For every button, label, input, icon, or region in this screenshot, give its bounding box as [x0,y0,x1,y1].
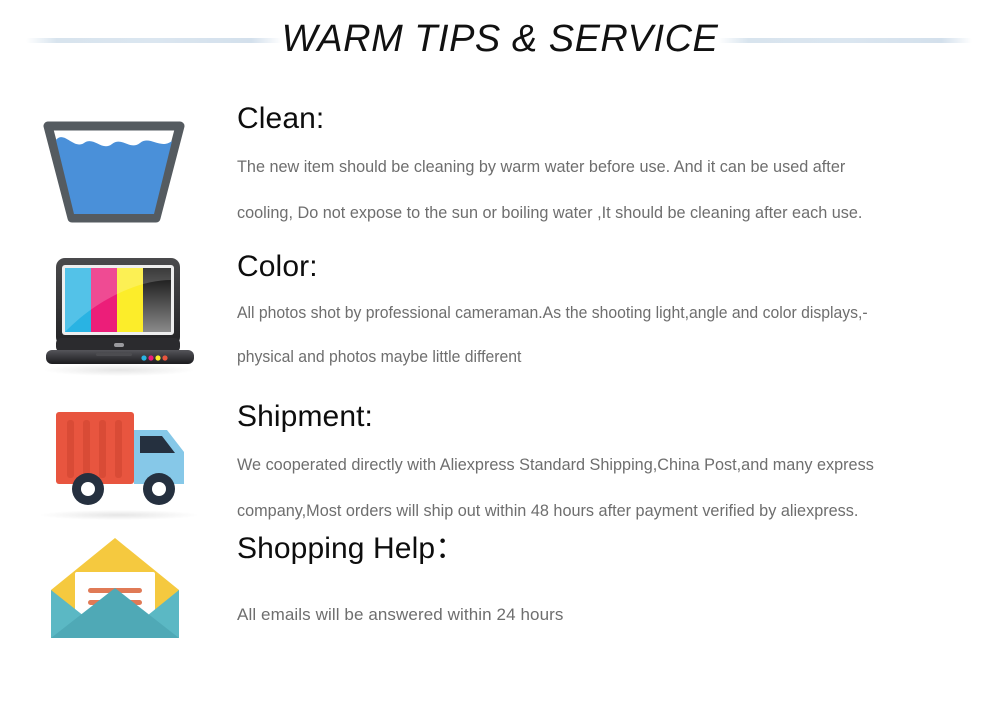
section-help-heading: Shopping Help： [237,530,982,568]
section-clean-body: Clean: The new item should be cleaning b… [237,100,982,230]
section-color-heading: Color: [237,248,982,286]
section-color-icon-wrap [30,248,210,376]
section-clean-line-2: cooling, Do not expose to the sun or boi… [237,196,948,230]
section-color-body: Color: All photos shot by professional c… [237,248,982,374]
section-shipment-body: Shipment: We cooperated directly with Al… [237,398,982,528]
section-help-icon-wrap [30,530,210,658]
section-shipment-heading: Shipment: [237,398,982,436]
truck-icon-shadow [40,510,198,520]
page-title: WARM TIPS & SERVICE [0,17,1000,61]
section-clean-icon-wrap [30,100,210,228]
section-shipment-icon-wrap [30,398,210,526]
laptop-color-bars-icon [44,254,196,374]
section-clean-heading: Clean: [237,100,982,138]
section-color-line-1: All photos shot by professional camerama… [237,296,948,330]
section-color-line-2: physical and photos maybe little differe… [237,340,948,374]
section-shipment-line-2: company,Most orders will ship out within… [237,494,948,528]
section-help-body: Shopping Help： All emails will be answer… [237,530,982,632]
laptop-icon-shadow [44,364,194,376]
open-envelope-icon [48,534,183,646]
section-help-line-1: All emails will be answered within 24 ho… [237,598,982,632]
section-clean-line-1: The new item should be cleaning by warm … [237,150,948,184]
section-shipment-line-1: We cooperated directly with Aliexpress S… [237,448,948,482]
page-header: WARM TIPS & SERVICE [0,0,1000,80]
delivery-truck-icon [36,400,201,520]
wash-basin-icon [38,118,190,228]
